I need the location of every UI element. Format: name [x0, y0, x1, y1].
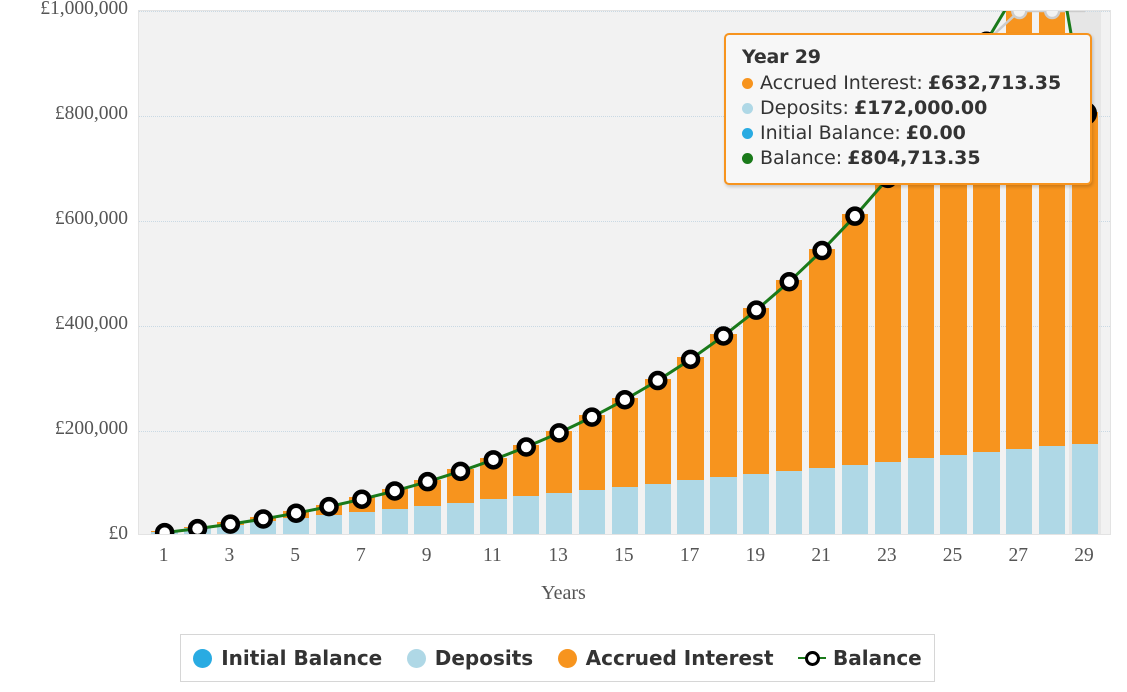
bar-segment-interest	[612, 398, 638, 487]
bar-column[interactable]	[447, 10, 473, 534]
bar-segment-interest	[217, 522, 243, 524]
bar-segment-interest	[414, 480, 440, 506]
bar-segment-deposits	[184, 528, 210, 534]
bar-segment-deposits	[382, 509, 408, 534]
y-axis-tick-label: £1,000,000	[0, 0, 128, 20]
bar-segment-interest	[250, 517, 276, 521]
x-axis-title: Years	[0, 582, 1127, 605]
bar-segment-deposits	[579, 490, 605, 534]
x-axis-tick-label: 25	[943, 545, 963, 567]
bar-segment-deposits	[809, 468, 835, 534]
y-axis-tick-label: £200,000	[0, 418, 128, 440]
tooltip-series-name: Initial Balance:	[760, 121, 901, 146]
bar-segment-deposits	[612, 487, 638, 534]
legend-swatch-icon	[193, 649, 212, 668]
x-axis-tick-label: 9	[422, 545, 432, 567]
bar-segment-deposits	[743, 474, 769, 534]
bar-segment-deposits	[973, 452, 999, 534]
bar-segment-interest	[184, 527, 210, 528]
x-axis-tick-label: 13	[548, 545, 568, 567]
chart-root: £0£200,000£400,000£600,000£800,000£1,000…	[0, 0, 1127, 692]
tooltip-row: Initial Balance:£0.00	[742, 121, 1076, 146]
bar-segment-deposits	[414, 506, 440, 534]
bar-segment-deposits	[217, 525, 243, 534]
legend-swatch-icon	[558, 649, 577, 668]
bar-segment-deposits	[513, 496, 539, 534]
legend-line-marker-icon	[798, 649, 826, 667]
bar-segment-interest	[480, 458, 506, 500]
bar-column[interactable]	[579, 10, 605, 534]
bar-segment-deposits	[677, 480, 703, 534]
bar-column[interactable]	[250, 10, 276, 534]
tooltip-series-value: £804,713.35	[847, 146, 980, 171]
tooltip-row: Deposits:£172,000.00	[742, 96, 1076, 121]
x-axis-tick-label: 1	[159, 545, 169, 567]
tooltip-series-dot-icon	[742, 128, 753, 139]
tooltip-series-dot-icon	[742, 153, 753, 164]
legend-item-label: Accrued Interest	[586, 646, 774, 670]
x-axis-tick-label: 17	[680, 545, 700, 567]
tooltip-series-name: Deposits:	[760, 96, 849, 121]
bar-segment-deposits	[283, 518, 309, 534]
bar-segment-interest	[316, 505, 342, 515]
bar-column[interactable]	[217, 10, 243, 534]
bar-segment-deposits	[250, 521, 276, 534]
bar-column[interactable]	[349, 10, 375, 534]
legend-item-accrued-interest[interactable]: Accrued Interest	[558, 646, 774, 670]
bar-segment-deposits	[447, 503, 473, 535]
legend-swatch-icon	[407, 649, 426, 668]
legend-item-label: Balance	[833, 646, 922, 670]
tooltip-series-dot-icon	[742, 78, 753, 89]
bar-segment-deposits	[151, 531, 177, 534]
bar-column[interactable]	[414, 10, 440, 534]
bar-column[interactable]	[677, 10, 703, 534]
bar-segment-interest	[382, 489, 408, 509]
tooltip-row: Balance:£804,713.35	[742, 146, 1076, 171]
y-axis-tick-label: £800,000	[0, 103, 128, 125]
x-axis-tick-label: 11	[483, 545, 502, 567]
x-axis-tick-label: 15	[614, 545, 634, 567]
tooltip-series-name: Balance:	[760, 146, 842, 171]
legend-item-label: Initial Balance	[221, 646, 382, 670]
bar-segment-interest	[842, 214, 868, 465]
chart-tooltip: Year 29 Accrued Interest:£632,713.35Depo…	[724, 33, 1092, 185]
bar-column[interactable]	[316, 10, 342, 534]
bar-segment-interest	[809, 249, 835, 468]
y-axis-tick-label: £600,000	[0, 208, 128, 230]
bar-segment-deposits	[645, 484, 671, 534]
bar-column[interactable]	[480, 10, 506, 534]
y-axis-tick-label: £0	[0, 523, 128, 545]
x-axis-tick-label: 7	[356, 545, 366, 567]
bar-column[interactable]	[546, 10, 572, 534]
tooltip-series-value: £632,713.35	[928, 71, 1061, 96]
bar-segment-interest	[645, 379, 671, 484]
x-axis-tick-label: 27	[1009, 545, 1029, 567]
bar-segment-deposits	[546, 493, 572, 534]
bar-column[interactable]	[382, 10, 408, 534]
bar-segment-interest	[447, 469, 473, 502]
tooltip-rows: Accrued Interest:£632,713.35Deposits:£17…	[742, 71, 1076, 171]
legend-item-balance[interactable]: Balance	[798, 646, 922, 670]
bar-segment-deposits	[875, 462, 901, 534]
bar-column[interactable]	[645, 10, 671, 534]
tooltip-series-name: Accrued Interest:	[760, 71, 923, 96]
x-axis-tick-label: 29	[1074, 545, 1094, 567]
tooltip-series-value: £172,000.00	[854, 96, 987, 121]
bar-segment-deposits	[776, 471, 802, 534]
bar-segment-interest	[349, 497, 375, 512]
bar-segment-deposits	[1072, 444, 1098, 534]
bar-segment-interest	[283, 511, 309, 518]
bar-segment-interest	[875, 176, 901, 461]
tooltip-row: Accrued Interest:£632,713.35	[742, 71, 1076, 96]
x-axis-tick-label: 5	[290, 545, 300, 567]
bar-segment-interest	[743, 308, 769, 474]
bar-segment-deposits	[710, 477, 736, 534]
bar-segment-interest	[513, 445, 539, 496]
bar-column[interactable]	[184, 10, 210, 534]
legend-item-deposits[interactable]: Deposits	[407, 646, 533, 670]
bar-segment-deposits	[940, 455, 966, 534]
legend-item-label: Deposits	[435, 646, 533, 670]
bar-segment-deposits	[349, 512, 375, 534]
tooltip-series-value: £0.00	[906, 121, 966, 146]
chart-legend[interactable]: Initial BalanceDepositsAccrued InterestB…	[180, 634, 935, 682]
bar-segment-deposits	[842, 465, 868, 534]
bar-segment-deposits	[908, 458, 934, 534]
bar-column[interactable]	[612, 10, 638, 534]
x-axis-tick-label: 21	[811, 545, 831, 567]
bar-column[interactable]	[151, 10, 177, 534]
bar-segment-interest	[677, 357, 703, 480]
bar-column[interactable]	[283, 10, 309, 534]
bar-segment-interest	[776, 280, 802, 471]
bar-segment-interest	[579, 415, 605, 490]
tooltip-series-dot-icon	[742, 103, 753, 114]
bar-segment-interest	[546, 431, 572, 493]
y-axis-tick-label: £400,000	[0, 313, 128, 335]
bar-segment-interest	[710, 334, 736, 477]
tooltip-title: Year 29	[742, 46, 1076, 68]
x-axis-tick-label: 23	[877, 545, 897, 567]
legend-item-initial-balance[interactable]: Initial Balance	[193, 646, 382, 670]
bar-segment-deposits	[480, 499, 506, 534]
x-axis-tick-label: 3	[225, 545, 235, 567]
bar-column[interactable]	[513, 10, 539, 534]
bar-segment-deposits	[316, 515, 342, 534]
x-axis-tick-label: 19	[746, 545, 766, 567]
